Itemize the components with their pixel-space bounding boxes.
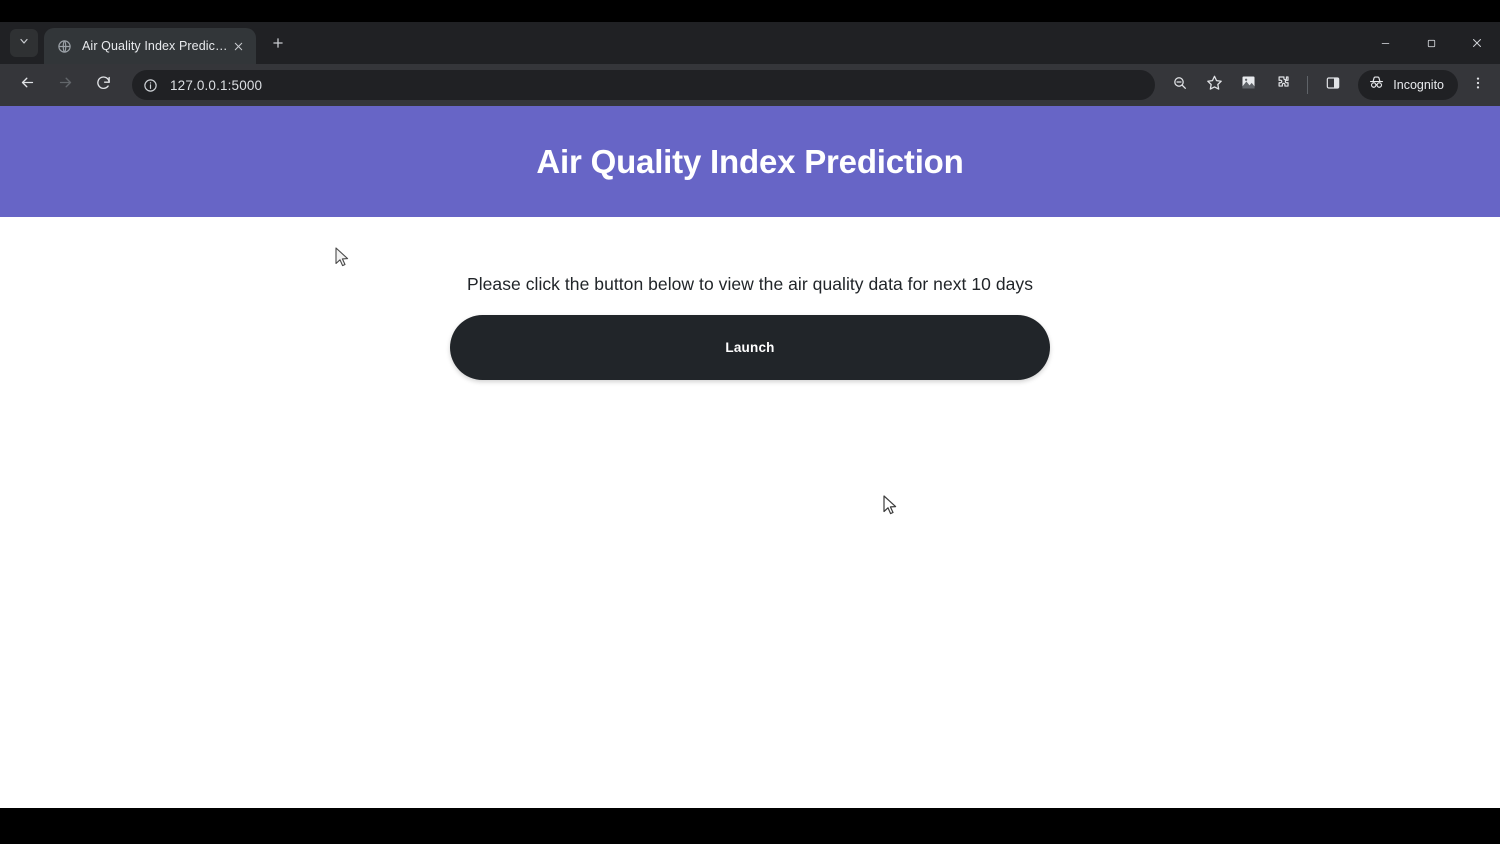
side-panel-icon bbox=[1325, 75, 1341, 96]
tab-close-icon[interactable] bbox=[228, 36, 248, 56]
incognito-label: Incognito bbox=[1393, 78, 1444, 92]
star-icon bbox=[1206, 74, 1223, 96]
pointer-arrow-primary bbox=[883, 495, 899, 517]
page-body: Please click the button below to view th… bbox=[0, 217, 1500, 380]
incognito-hat-icon bbox=[1368, 74, 1385, 96]
extension-image-button[interactable] bbox=[1233, 70, 1263, 100]
window-controls bbox=[1362, 22, 1500, 64]
forward-button[interactable] bbox=[49, 69, 81, 101]
toolbar-divider bbox=[1307, 76, 1308, 94]
new-tab-button[interactable] bbox=[264, 31, 292, 59]
instruction-text: Please click the button below to view th… bbox=[467, 274, 1033, 295]
address-bar-url: 127.0.0.1:5000 bbox=[170, 78, 262, 93]
reload-icon bbox=[95, 74, 112, 96]
reload-button[interactable] bbox=[87, 69, 119, 101]
plus-icon bbox=[271, 36, 285, 55]
tab-title: Air Quality Index Predictor bbox=[82, 39, 228, 53]
launch-button[interactable]: Launch bbox=[450, 315, 1050, 380]
info-circle-icon[interactable] bbox=[138, 73, 162, 97]
browser-tab[interactable]: Air Quality Index Predictor bbox=[44, 28, 256, 64]
chevron-down-icon bbox=[18, 34, 30, 52]
letterbox-bottom-bar bbox=[0, 808, 1500, 844]
browser-toolbar: 127.0.0.1:5000 bbox=[0, 64, 1500, 106]
page-header-banner: Air Quality Index Prediction bbox=[0, 106, 1500, 217]
side-panel-button[interactable] bbox=[1318, 70, 1348, 100]
screen: Air Quality Index Predictor bbox=[0, 0, 1500, 844]
bookmark-button[interactable] bbox=[1199, 70, 1229, 100]
page-title: Air Quality Index Prediction bbox=[536, 143, 963, 181]
puzzle-piece-icon bbox=[1274, 74, 1291, 96]
zoom-out-icon bbox=[1172, 75, 1188, 96]
arrow-left-icon bbox=[19, 74, 36, 96]
address-bar[interactable]: 127.0.0.1:5000 bbox=[132, 70, 1155, 100]
browser-menu-button[interactable] bbox=[1464, 70, 1492, 100]
window-close-button[interactable] bbox=[1454, 22, 1500, 64]
back-button[interactable] bbox=[11, 69, 43, 101]
tab-strip: Air Quality Index Predictor bbox=[0, 22, 1500, 64]
three-dots-vertical-icon bbox=[1470, 75, 1486, 96]
globe-icon bbox=[56, 38, 72, 54]
tab-search-button[interactable] bbox=[10, 29, 38, 57]
browser-window: Air Quality Index Predictor bbox=[0, 22, 1500, 808]
extension-image-icon bbox=[1240, 74, 1257, 96]
page-viewport: Air Quality Index Prediction Please clic… bbox=[0, 106, 1500, 808]
incognito-indicator[interactable]: Incognito bbox=[1358, 70, 1458, 100]
arrow-right-icon bbox=[57, 74, 74, 96]
window-maximize-button[interactable] bbox=[1408, 22, 1454, 64]
extensions-button[interactable] bbox=[1267, 70, 1297, 100]
letterbox-top-bar bbox=[0, 0, 1500, 22]
window-minimize-button[interactable] bbox=[1362, 22, 1408, 64]
zoom-out-button[interactable] bbox=[1165, 70, 1195, 100]
